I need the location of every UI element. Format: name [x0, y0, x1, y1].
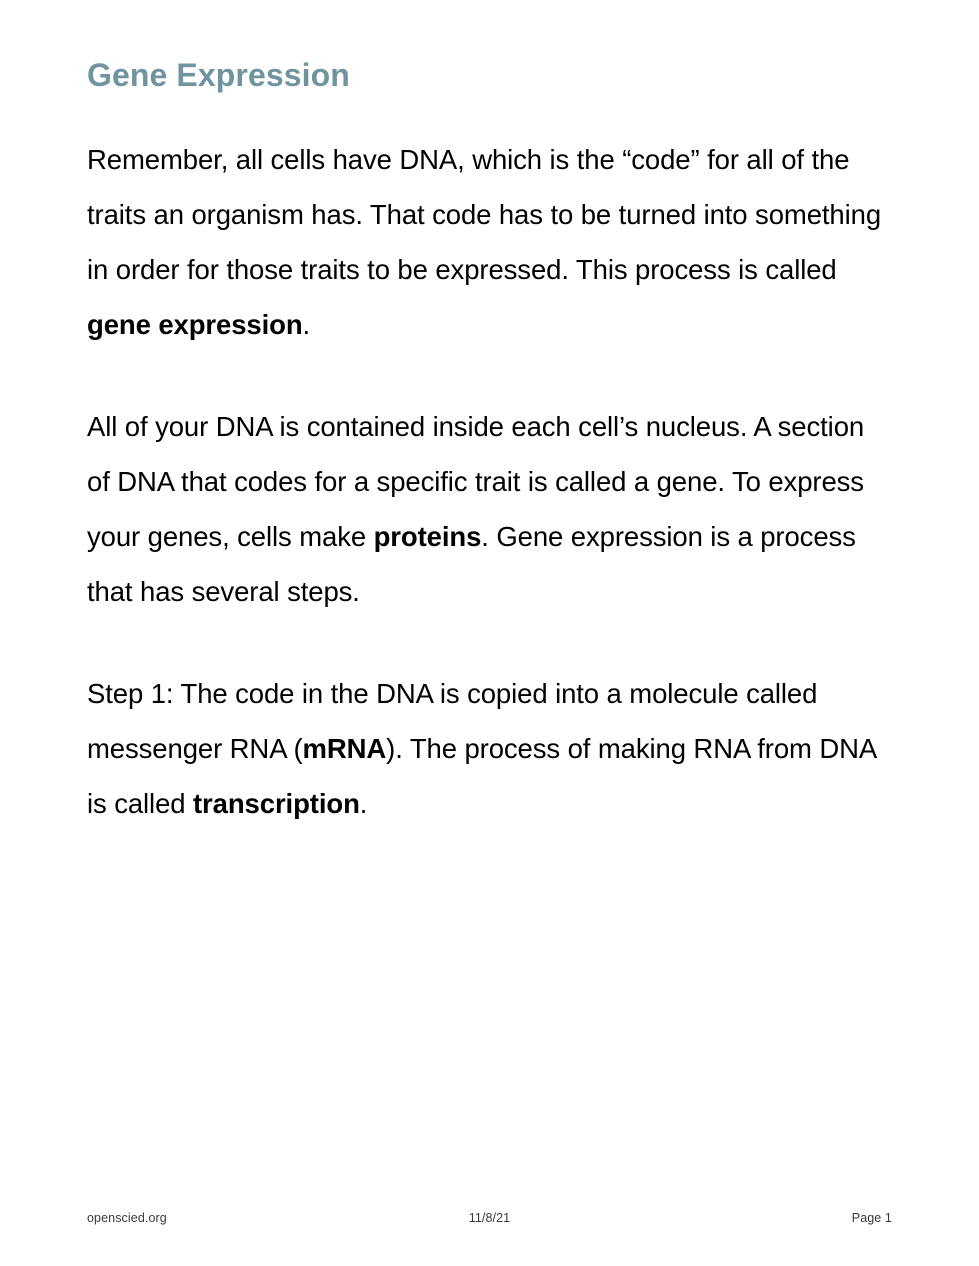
paragraph-2: All of your DNA is contained inside each…: [87, 399, 887, 619]
emphasis-term: gene expression: [87, 309, 303, 340]
text-run: Remember, all cells have DNA, which is t…: [87, 144, 881, 285]
emphasis-term: transcription: [193, 788, 360, 819]
page-title: Gene Expression: [87, 0, 887, 95]
emphasis-term: proteins: [374, 521, 482, 552]
footer-date: 11/8/21: [355, 1211, 623, 1225]
text-run: .: [360, 788, 368, 819]
page-footer: openscied.org 11/8/21 Page 1: [87, 1208, 892, 1228]
text-run: .: [303, 309, 311, 340]
footer-source: openscied.org: [87, 1211, 355, 1225]
emphasis-term: mRNA: [303, 733, 387, 764]
paragraph-3: Step 1: The code in the DNA is copied in…: [87, 666, 887, 831]
document-body: Remember, all cells have DNA, which is t…: [87, 132, 887, 831]
document-content: Gene Expression Remember, all cells have…: [87, 0, 887, 831]
footer-page-number: Page 1: [624, 1211, 892, 1225]
document-page: Gene Expression Remember, all cells have…: [0, 0, 979, 1266]
paragraph-1: Remember, all cells have DNA, which is t…: [87, 132, 887, 352]
